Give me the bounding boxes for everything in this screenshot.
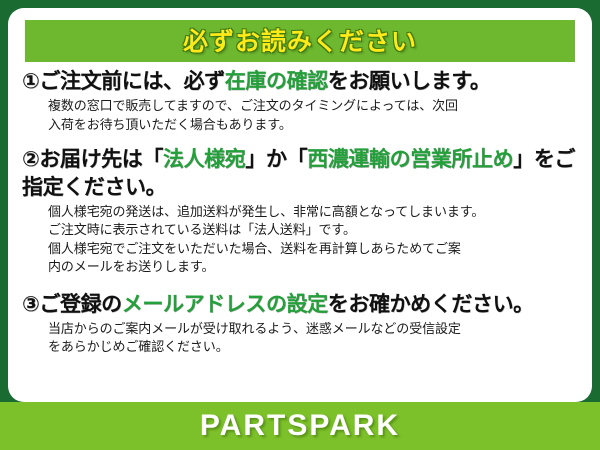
section-1-heading-part-3: をお願いします。 bbox=[328, 69, 491, 93]
section-1-body: 複数の窓口で販売してますので、ご注文のタイミングによっては、次回 入荷をお待ち頂… bbox=[22, 95, 578, 135]
notice-panel: 必ずお読みください ①ご注文前には、必ず在庫の確認をお願いします。 複数の窓口で… bbox=[8, 8, 592, 402]
brand-logo: PARTSPARK bbox=[200, 411, 400, 441]
header-title: 必ずお読みください bbox=[183, 29, 417, 54]
section-2-heading-highlight-2: 西濃運輸の営業所止め bbox=[307, 147, 513, 171]
section-3: ③ご登録のメールアドレスの設定をお確かめください。 当店からのご案内メールが受け… bbox=[8, 291, 592, 358]
section-3-heading-part-3: をお確かめください。 bbox=[328, 292, 534, 316]
section-2-heading-part-5: 」 bbox=[513, 147, 534, 171]
section-2-heading-part-1: ②お届け先は「 bbox=[22, 147, 163, 171]
section-2-heading: ②お届け先は「法人様宛」か「西濃運輸の営業所止め」をご指定ください。 bbox=[22, 146, 578, 201]
section-1-heading: ①ご注文前には、必ず在庫の確認をお願いします。 bbox=[22, 68, 578, 95]
section-1: ①ご注文前には、必ず在庫の確認をお願いします。 複数の窓口で販売してますので、ご… bbox=[8, 68, 592, 135]
section-1-heading-highlight: 在庫の確認 bbox=[225, 69, 328, 93]
section-2: ②お届け先は「法人様宛」か「西濃運輸の営業所止め」をご指定ください。 個人様宅宛… bbox=[8, 146, 592, 277]
header-banner: 必ずお読みください bbox=[25, 20, 575, 62]
sections-container: ①ご注文前には、必ず在庫の確認をお願いします。 複数の窓口で販売してますので、ご… bbox=[8, 66, 592, 358]
section-2-body: 個人様宅宛の発送は、追加送料が発生し、非常に高額となってしまいます。 ご注文時に… bbox=[22, 201, 578, 278]
section-3-heading-part-1: ③ご登録の bbox=[22, 292, 122, 316]
section-3-heading: ③ご登録のメールアドレスの設定をお確かめください。 bbox=[22, 291, 578, 318]
section-3-heading-highlight: メールアドレスの設定 bbox=[122, 292, 328, 316]
section-1-heading-part-1: ①ご注文前には、必ず bbox=[22, 69, 225, 93]
notice-card: 必ずお読みください ①ご注文前には、必ず在庫の確認をお願いします。 複数の窓口で… bbox=[0, 0, 600, 450]
footer-bar: PARTSPARK bbox=[0, 402, 600, 450]
section-2-heading-part-3: 」か「 bbox=[245, 147, 307, 171]
section-2-heading-highlight-1: 法人様宛 bbox=[163, 147, 245, 171]
section-3-body: 当店からのご案内メールが受け取れるよう、迷惑メールなどの受信設定 をあらかじめご… bbox=[22, 318, 578, 358]
